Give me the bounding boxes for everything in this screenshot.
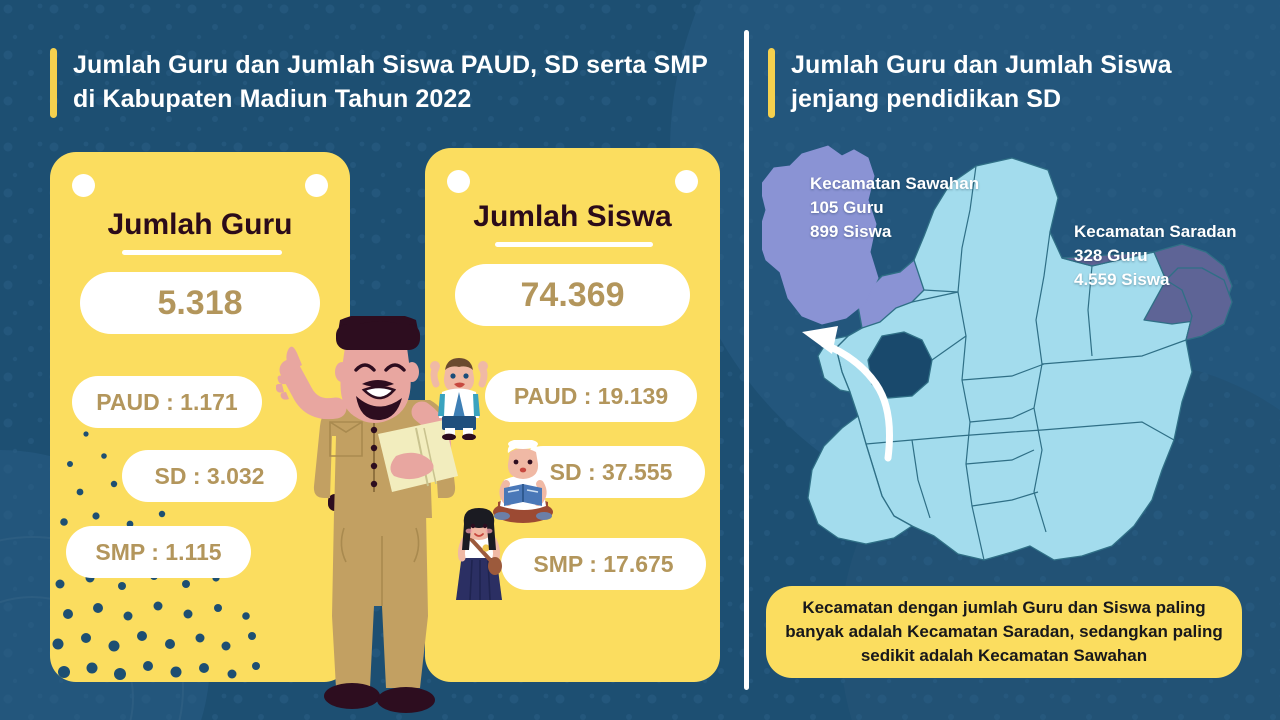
siswa-smp-value: SMP : 17.675 [501,538,706,590]
card-guru-title: Jumlah Guru [50,208,350,242]
title-accent-bar [768,48,775,118]
sawahan-name: Kecamatan Sawahan [810,172,979,196]
saradan-teachers: 328 Guru [1074,244,1237,268]
map-caption-text: Kecamatan dengan jumlah Guru dan Siswa p… [766,596,1242,668]
sawahan-students: 899 Siswa [810,220,979,244]
map-label-sawahan: Kecamatan Sawahan 105 Guru 899 Siswa [810,172,979,244]
left-panel-title-text: Jumlah Guru dan Jumlah Siswa PAUD, SD se… [73,48,730,116]
card-title-underline [122,250,282,255]
boy-student-illustration [428,358,490,440]
saradan-students: 4.559 Siswa [1074,268,1237,292]
left-panel-title: Jumlah Guru dan Jumlah Siswa PAUD, SD se… [50,48,730,118]
card-corner-dot [72,174,95,197]
right-panel-title-text: Jumlah Guru dan Jumlah Siswa jenjang pen… [791,48,1238,116]
panel-divider [744,30,749,690]
card-title-underline [495,242,653,247]
siswa-paud-value: PAUD : 19.139 [485,370,697,422]
title-accent-bar [50,48,57,118]
girl-student-illustration [450,508,508,604]
saradan-name: Kecamatan Saradan [1074,220,1237,244]
card-corner-dot [305,174,328,197]
card-corner-dot [675,170,698,193]
guru-paud-value: PAUD : 1.171 [72,376,262,428]
card-corner-dot [447,170,470,193]
map-label-saradan: Kecamatan Saradan 328 Guru 4.559 Siswa [1074,220,1237,292]
map-caption-box: Kecamatan dengan jumlah Guru dan Siswa p… [766,586,1242,678]
siswa-total-value: 74.369 [455,264,690,326]
guru-smp-value: SMP : 1.115 [66,526,251,578]
guru-sd-value: SD : 3.032 [122,450,297,502]
infographic-canvas: Jumlah Guru dan Jumlah Siswa PAUD, SD se… [0,0,1280,720]
sawahan-teachers: 105 Guru [810,196,979,220]
card-siswa-title: Jumlah Siswa [425,200,720,234]
right-panel-title: Jumlah Guru dan Jumlah Siswa jenjang pen… [768,48,1238,118]
